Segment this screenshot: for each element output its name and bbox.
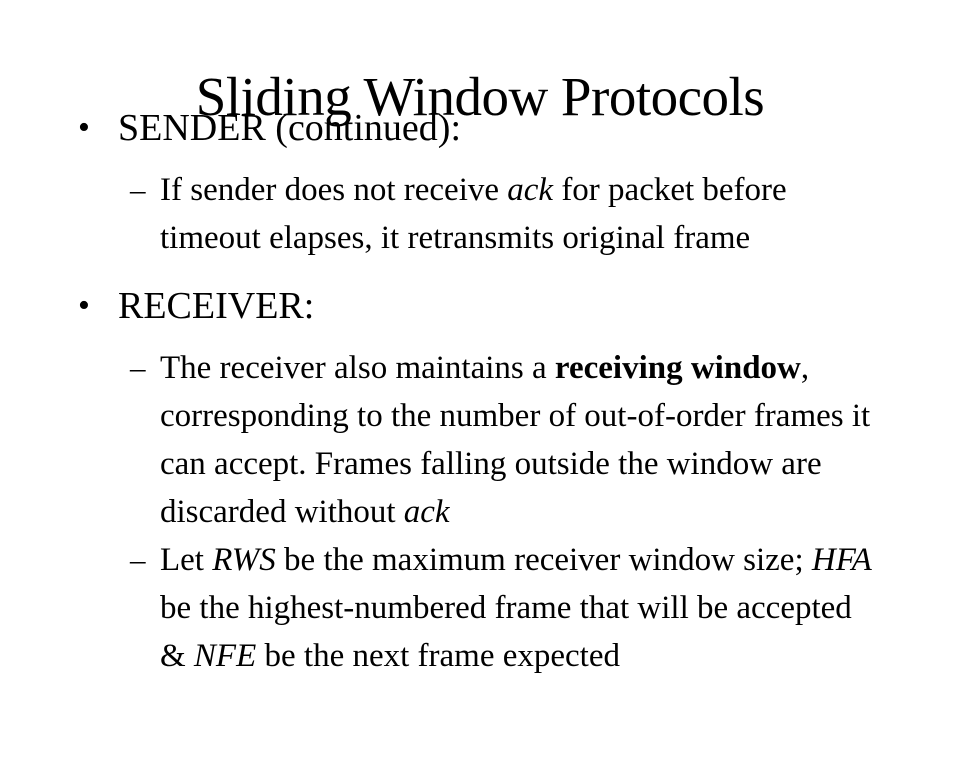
sub-bullet-text-receiving-window: The receiver also maintains a receiving … [160, 344, 872, 536]
bullet-dot-icon: • [78, 284, 118, 328]
run-italic-ack: ack [404, 494, 450, 530]
spacer [0, 262, 960, 284]
spacer [0, 330, 960, 344]
run-italic-nfe: NFE [194, 638, 256, 674]
sub-bullet-text-rws-definitions: Let RWS be the maximum receiver window s… [160, 536, 872, 680]
sub-bullet-item-receiving-window: – The receiver also maintains a receivin… [0, 344, 960, 536]
sub-bullet-text-sender-timeout: If sender does not receive ack for packe… [160, 166, 872, 262]
run-text: be the next frame expected [256, 638, 620, 674]
run-bold-receiving-window: receiving window [555, 350, 801, 386]
bullet-dash-icon: – [130, 536, 160, 584]
bullet-item-sender: • SENDER (continued): [0, 106, 960, 150]
bullet-label-sender: SENDER (continued): [118, 106, 960, 150]
sub-bullet-item-rws-definitions: – Let RWS be the maximum receiver window… [0, 536, 960, 680]
run-italic-hfa: HFA [812, 542, 872, 578]
bullet-dot-icon: • [78, 106, 118, 150]
slide-body: • SENDER (continued): – If sender does n… [0, 106, 960, 680]
run-italic-ack: ack [507, 172, 553, 208]
sub-bullet-item-sender-timeout: – If sender does not receive ack for pac… [0, 166, 960, 262]
bullet-dash-icon: – [130, 344, 160, 392]
slide-canvas: Sliding Window Protocols • SENDER (conti… [0, 0, 960, 768]
run-text: be the maximum receiver window size; [276, 542, 812, 578]
run-text: Let [160, 542, 212, 578]
bullet-item-receiver: • RECEIVER: [0, 284, 960, 328]
run-text: If sender does not receive [160, 172, 507, 208]
run-italic-rws: RWS [212, 542, 276, 578]
run-text: The receiver also maintains a [160, 350, 555, 386]
bullet-dash-icon: – [130, 166, 160, 214]
spacer [0, 152, 960, 166]
bullet-label-receiver: RECEIVER: [118, 284, 960, 328]
